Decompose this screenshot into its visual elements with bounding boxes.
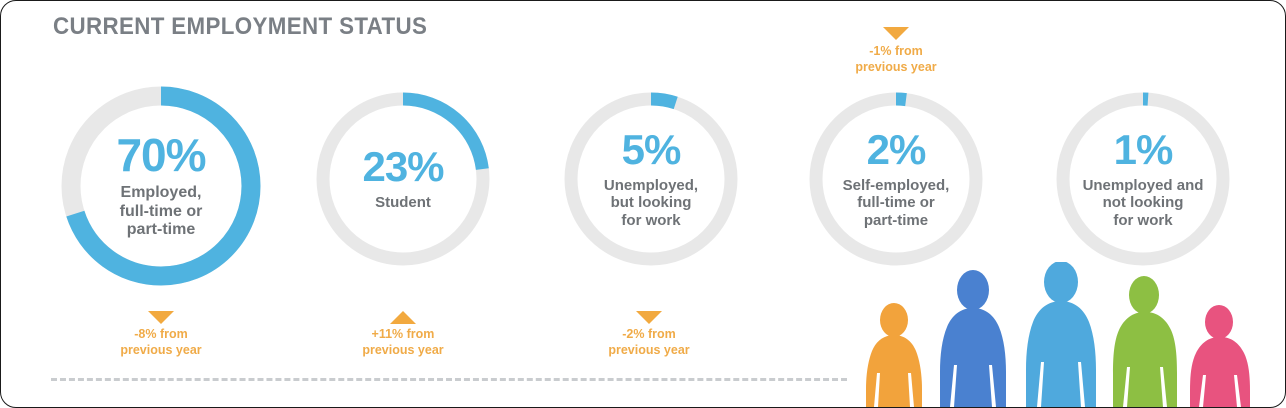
donut-track: [1063, 99, 1223, 259]
arrow-up-icon: [390, 311, 416, 324]
donut-track: [816, 99, 976, 259]
donut-student: 23% Student: [313, 89, 493, 269]
donut-chart-unemployed-not-looking: [1053, 89, 1233, 269]
person-green-icon: [1113, 276, 1177, 407]
change-annotation-self-employed: -1% from previous year: [816, 27, 976, 75]
stat-employed: 70% Employed, full-time or part-time: [51, 86, 271, 286]
donut-self-employed: 2% Self-employed, full-time or part-time: [806, 89, 986, 269]
donut-track: [571, 99, 731, 259]
person-orange-icon: [866, 303, 922, 407]
people-silhouettes-svg: [861, 262, 1261, 407]
change-line-2: previous year: [816, 60, 976, 76]
donut-unemployed-looking: 5% Unemployed, but looking for work: [561, 89, 741, 269]
person-pink-icon: [1190, 305, 1250, 407]
change-line-1: -1% from: [816, 44, 976, 60]
change-annotation-unemployed-looking: -2% from previous year: [569, 311, 729, 358]
donut-chart-employed: [51, 86, 271, 286]
people-illustration: [861, 262, 1261, 407]
change-line-1: +11% from: [323, 327, 483, 343]
employment-status-card: CURRENT EMPLOYMENT STATUS 70% Employed, …: [0, 0, 1286, 408]
change-annotation-student: +11% from previous year: [323, 311, 483, 358]
change-line-1: -8% from: [81, 327, 241, 343]
page-title: CURRENT EMPLOYMENT STATUS: [53, 13, 427, 41]
person-blue-dark-icon: [940, 270, 1006, 407]
stat-student: 23% Student: [313, 89, 493, 269]
donut-chart-self-employed: [806, 89, 986, 269]
donut-chart-unemployed-looking: [561, 89, 741, 269]
change-line-2: previous year: [81, 343, 241, 359]
stat-unemployed-not-looking: 1% Unemployed and not looking for work: [1053, 89, 1233, 269]
dashed-divider: [51, 378, 847, 381]
change-line-2: previous year: [569, 343, 729, 359]
change-line-2: previous year: [323, 343, 483, 359]
stat-self-employed: 2% Self-employed, full-time or part-time: [806, 89, 986, 269]
arrow-down-icon: [636, 311, 662, 324]
person-blue-light-icon: [1026, 262, 1096, 407]
donut-employed: 70% Employed, full-time or part-time: [51, 86, 271, 286]
arrow-down-icon: [148, 311, 174, 324]
change-annotation-employed: -8% from previous year: [81, 311, 241, 358]
stat-unemployed-looking: 5% Unemployed, but looking for work: [561, 89, 741, 269]
donut-unemployed-not-looking: 1% Unemployed and not looking for work: [1053, 89, 1233, 269]
arrow-down-icon: [883, 27, 909, 40]
donut-chart-student: [313, 89, 493, 269]
change-line-1: -2% from: [569, 327, 729, 343]
